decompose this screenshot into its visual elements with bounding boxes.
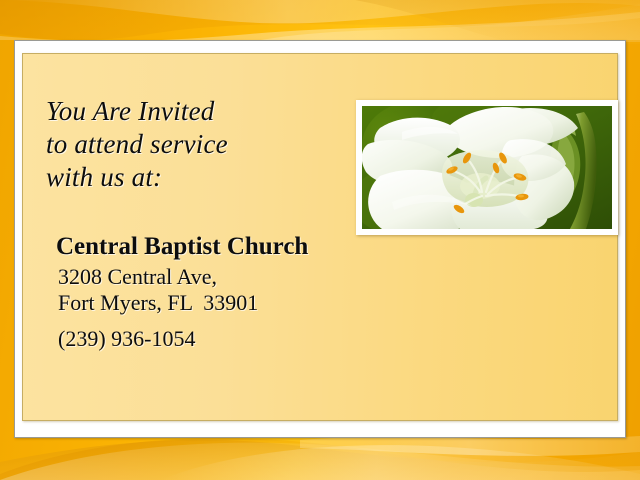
address-block: Central Baptist Church 3208 Central Ave,…: [56, 232, 436, 352]
headline-line-2: to attend service: [46, 128, 376, 161]
organization-name: Central Baptist Church: [56, 232, 436, 262]
photo-frame: [356, 100, 618, 235]
phone-number: (239) 936-1054: [58, 326, 436, 352]
headline-line-1: You Are Invited: [46, 95, 376, 128]
easter-lily-photo: [362, 106, 612, 229]
content-panel: You Are Invited to attend service with u…: [22, 53, 618, 421]
headline-line-3: with us at:: [46, 161, 376, 194]
invitation-headline: You Are Invited to attend service with u…: [46, 95, 376, 194]
city-state-zip: Fort Myers, FL 33901: [58, 290, 436, 316]
invitation-slide: You Are Invited to attend service with u…: [0, 0, 640, 480]
street-address: 3208 Central Ave,: [58, 264, 436, 290]
